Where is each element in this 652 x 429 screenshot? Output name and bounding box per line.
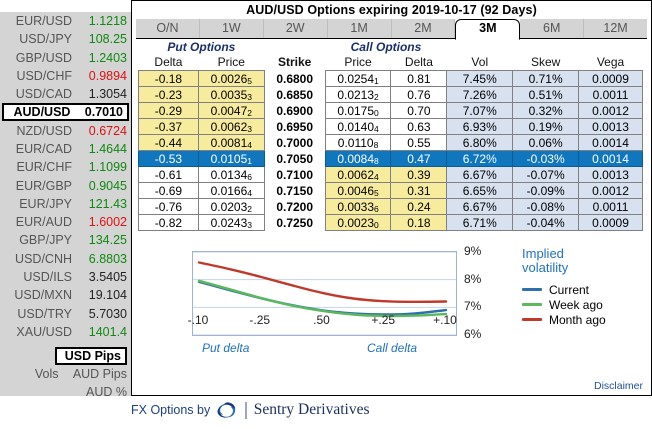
cell-strike[interactable]: 0.7250	[264, 215, 325, 231]
cell-strike[interactable]: 0.6850	[264, 87, 325, 103]
footer-branding: FX Options by Sentry Derivatives	[131, 401, 370, 419]
cell-strike[interactable]: 0.7100	[264, 167, 325, 183]
col-header-put-delta: Delta	[139, 54, 199, 71]
tab-on[interactable]: O/N	[136, 19, 200, 38]
legend-label: Current	[549, 283, 589, 297]
cell-call-price[interactable]: 0.00230	[325, 215, 391, 231]
rate-row[interactable]: USD/ILS3.5405	[0, 268, 131, 286]
price-last-digit: 3	[247, 124, 252, 134]
cell-vol[interactable]: 7.45%	[447, 71, 513, 87]
chart-y-tick-label: 8%	[464, 272, 481, 286]
rate-row[interactable]: USD/MXN19.104	[0, 286, 131, 304]
cell-put-delta[interactable]: -0.23	[139, 87, 199, 103]
rate-pair-label: USD/MXN	[0, 288, 79, 302]
brand-name: Sentry Derivatives	[254, 401, 370, 419]
rate-pair-label: GBP/JPY	[0, 233, 79, 247]
rate-pair-label: EUR/GBP	[0, 179, 79, 193]
rate-pair-label: USD/CHF	[0, 69, 79, 83]
rate-pair-label: EUR/CAD	[0, 142, 79, 156]
volatility-smile-chart: 9%8%7%6% -.10-.25.50+.25+.10 Put delta C…	[192, 251, 647, 361]
put-options-group-label: Put Options	[139, 39, 265, 54]
cell-skew[interactable]: -0.04%	[513, 215, 579, 231]
cell-put-delta[interactable]: -0.53	[139, 151, 199, 167]
cell-put-delta[interactable]: -0.37	[139, 119, 199, 135]
cell-strike[interactable]: 0.6950	[264, 119, 325, 135]
price-last-digit: 1	[374, 76, 379, 86]
rate-row[interactable]: GBP/USD1.2403	[0, 49, 131, 67]
cell-vol[interactable]: 6.72%	[447, 151, 513, 167]
cell-put-price[interactable]: 0.01051	[198, 151, 264, 167]
col-header-strike: Strike	[264, 54, 325, 71]
rate-row[interactable]: EUR/USD1.1218	[0, 12, 131, 30]
cell-put-delta[interactable]: -0.82	[139, 215, 199, 231]
options-chain-table: Put Options Call Options Delta Price Str…	[138, 39, 643, 231]
rate-pair-label: USD/CNH	[0, 252, 79, 266]
rate-list: EUR/USD1.1218USD/JPY108.25GBP/USD1.2403U…	[0, 12, 131, 341]
rate-row[interactable]: EUR/CAD1.4644	[0, 140, 131, 158]
cell-skew[interactable]: -0.07%	[513, 167, 579, 183]
rate-row[interactable]: EUR/JPY121.43	[0, 195, 131, 213]
rate-row[interactable]: USD/CNH6.8803	[0, 250, 131, 268]
cell-vol[interactable]: 6.67%	[447, 199, 513, 215]
vol-unit-label: AUD Pips	[67, 367, 131, 381]
cell-skew[interactable]: -0.03%	[513, 151, 579, 167]
table-row[interactable]: -0.230.003530.68500.021320.767.26%0.51%0…	[139, 87, 643, 103]
footer-divider	[245, 402, 247, 419]
cell-call-delta[interactable]: 0.76	[391, 87, 447, 103]
cell-call-delta[interactable]: 0.81	[391, 71, 447, 87]
rate-pair-label: EUR/CHF	[0, 160, 79, 174]
rate-value: 19.104	[79, 288, 131, 302]
cell-put-price[interactable]: 0.00623	[198, 119, 264, 135]
page-title: AUD/USD Options expiring 2019-10-17 (92 …	[132, 1, 651, 17]
rate-row[interactable]: NZD/USD0.6724	[0, 121, 131, 139]
cell-put-price[interactable]: 0.01664	[198, 183, 264, 199]
call-delta-axis-label: Call delta	[367, 341, 417, 355]
price-last-digit: 8	[374, 140, 379, 150]
table-row[interactable]: -0.290.004720.69000.017500.707.07%0.32%0…	[139, 103, 643, 119]
cell-skew[interactable]: 0.32%	[513, 103, 579, 119]
cell-put-delta[interactable]: -0.69	[139, 183, 199, 199]
rate-value: 1.6002	[79, 215, 131, 229]
chart-x-tick-label: -.10	[175, 313, 221, 327]
cell-strike[interactable]: 0.7050	[264, 151, 325, 167]
chart-y-tick-label: 7%	[464, 299, 481, 313]
col-header-call-price: Price	[325, 54, 391, 71]
call-options-group-label: Call Options	[325, 39, 447, 54]
cell-call-delta[interactable]: 0.39	[391, 167, 447, 183]
chart-y-tick-label: 9%	[464, 244, 481, 258]
cell-vol[interactable]: 7.26%	[447, 87, 513, 103]
cell-strike[interactable]: 0.7000	[264, 135, 325, 151]
rate-pair-label: USD/JPY	[0, 32, 79, 46]
cell-strike[interactable]: 0.6800	[264, 71, 325, 87]
table-row[interactable]: -0.760.020320.72000.003360.246.67%-0.08%…	[139, 199, 643, 215]
legend-item[interactable]: Month ago	[522, 312, 647, 327]
rate-value: 0.9894	[79, 69, 131, 83]
col-header-vol: Vol	[447, 54, 513, 71]
price-last-digit: 4	[247, 188, 252, 198]
rate-row[interactable]: AUD/USD0.7010	[2, 103, 129, 121]
legend-item[interactable]: Current	[522, 282, 647, 297]
tab-2m[interactable]: 2M	[392, 19, 456, 38]
cell-skew[interactable]: -0.08%	[513, 199, 579, 215]
vol-unit-option[interactable]: VolsAUD Pips	[0, 365, 131, 383]
rate-value: 108.25	[79, 32, 131, 46]
rate-value: 0.9045	[79, 179, 131, 193]
rate-value: 1.1218	[79, 14, 131, 28]
chart-x-tick-label: +.25	[360, 313, 406, 327]
chart-x-tick-label: -.25	[237, 313, 283, 327]
table-row[interactable]: -0.370.006230.69500.014040.636.93%0.19%0…	[139, 119, 643, 135]
cell-strike[interactable]: 0.7150	[264, 183, 325, 199]
cell-call-delta[interactable]: 0.55	[391, 135, 447, 151]
rate-row[interactable]: GBP/JPY134.25	[0, 231, 131, 249]
table-row[interactable]: -0.530.010510.70500.008480.476.72%-0.03%…	[139, 151, 643, 167]
cell-call-price[interactable]: 0.02541	[325, 71, 391, 87]
disclaimer-link[interactable]: Disclaimer	[594, 380, 643, 392]
cell-vega[interactable]: 0.0014	[579, 151, 643, 167]
cell-put-delta[interactable]: -0.44	[139, 135, 199, 151]
rate-row[interactable]: XAU/USD1401.4	[0, 323, 131, 341]
price-last-digit: 8	[374, 156, 379, 166]
cell-put-delta[interactable]: -0.29	[139, 103, 199, 119]
rate-value: 5.7030	[79, 307, 131, 321]
rate-row[interactable]: USD/TRY5.7030	[0, 304, 131, 322]
cell-call-price[interactable]: 0.02132	[325, 87, 391, 103]
cell-vega[interactable]: 0.0014	[579, 135, 643, 151]
rate-row[interactable]: USD/JPY108.25	[0, 30, 131, 48]
currency-pair-sidebar: EUR/USD1.1218USD/JPY108.25GBP/USD1.2403U…	[0, 12, 131, 396]
price-last-digit: 4	[374, 124, 379, 134]
cell-call-delta[interactable]: 0.31	[391, 183, 447, 199]
rate-pair-label: XAU/USD	[0, 325, 79, 339]
price-last-digit: 3	[247, 220, 252, 230]
cell-strike[interactable]: 0.7200	[264, 199, 325, 215]
rate-value: 1.1099	[79, 160, 131, 174]
rate-value: 1401.4	[79, 325, 131, 339]
cell-skew[interactable]: 0.51%	[513, 87, 579, 103]
rate-value: 0.7010	[77, 105, 127, 119]
vol-unit-option[interactable]: AUD %	[0, 383, 131, 401]
footer-prefix: FX Options by	[131, 403, 210, 417]
cell-put-delta[interactable]: -0.18	[139, 71, 199, 87]
price-last-digit: 3	[247, 92, 252, 102]
col-header-vega: Vega	[579, 54, 643, 71]
rate-value: 121.43	[79, 197, 131, 211]
cell-vega[interactable]: 0.0012	[579, 103, 643, 119]
cell-call-delta[interactable]: 0.70	[391, 103, 447, 119]
cell-call-price[interactable]: 0.00848	[325, 151, 391, 167]
rate-value: 1.3054	[79, 87, 131, 101]
cell-put-delta[interactable]: -0.61	[139, 167, 199, 183]
rate-pair-label: USD/ILS	[0, 270, 79, 284]
cell-vol[interactable]: 6.80%	[447, 135, 513, 151]
rate-row[interactable]: EUR/CHF1.1099	[0, 158, 131, 176]
chart-series-line	[199, 281, 446, 316]
cell-vega[interactable]: 0.0012	[579, 183, 643, 199]
col-header-call-delta: Delta	[391, 54, 447, 71]
cell-put-price[interactable]: 0.02032	[198, 199, 264, 215]
tab-2w[interactable]: 2W	[264, 19, 328, 38]
rate-row[interactable]: USD/CHF0.9894	[0, 67, 131, 85]
legend-swatch	[522, 318, 542, 322]
vols-section-label: Vols	[0, 367, 67, 381]
cell-vega[interactable]: 0.0011	[579, 87, 643, 103]
cell-call-price[interactable]: 0.00336	[325, 199, 391, 215]
cell-put-price[interactable]: 0.00265	[198, 71, 264, 87]
rate-row[interactable]: EUR/AUD1.6002	[0, 213, 131, 231]
cell-put-price[interactable]: 0.00353	[198, 87, 264, 103]
cell-vol[interactable]: 6.67%	[447, 167, 513, 183]
cell-vega[interactable]: 0.0009	[579, 215, 643, 231]
put-delta-axis-label: Put delta	[202, 341, 249, 355]
rate-pair-label: NZD/USD	[0, 124, 79, 138]
rate-pair-label: EUR/USD	[0, 14, 79, 28]
options-panel: AUD/USD Options expiring 2019-10-17 (92 …	[131, 0, 652, 396]
column-header-row: Delta Price Strike Price Delta Vol Skew …	[139, 54, 643, 71]
rate-value: 1.2403	[79, 51, 131, 65]
legend-title: Implied volatility	[522, 247, 647, 275]
cell-vega[interactable]: 0.0013	[579, 167, 643, 183]
rate-value: 6.8803	[79, 252, 131, 266]
group-header-row: Put Options Call Options	[139, 39, 643, 54]
chart-x-tick-label: +.10	[422, 313, 468, 327]
legend-label: Week ago	[549, 298, 603, 312]
cell-put-delta[interactable]: -0.76	[139, 199, 199, 215]
price-last-digit: 6	[374, 204, 379, 214]
cell-skew[interactable]: -0.09%	[513, 183, 579, 199]
cell-vega[interactable]: 0.0011	[579, 199, 643, 215]
cell-call-price[interactable]: 0.00465	[325, 183, 391, 199]
cell-vol[interactable]: 6.65%	[447, 183, 513, 199]
tenor-tab-bar: O/N1W2W1M2M3M6M12M	[136, 19, 647, 39]
tab-12m[interactable]: 12M	[584, 19, 647, 38]
price-last-digit: 5	[247, 76, 252, 86]
table-row[interactable]: -0.610.013460.71000.006240.396.67%-0.07%…	[139, 167, 643, 183]
cell-vega[interactable]: 0.0013	[579, 119, 643, 135]
rate-value: 1.4644	[79, 142, 131, 156]
legend-swatch	[522, 288, 542, 292]
vol-unit-option[interactable]: USD Pips	[55, 347, 127, 365]
col-header-put-price: Price	[198, 54, 264, 71]
cell-call-delta[interactable]: 0.63	[391, 119, 447, 135]
tab-3m[interactable]: 3M	[455, 19, 520, 40]
rate-pair-label: GBP/USD	[0, 51, 79, 65]
rate-pair-label: AUD/USD	[4, 105, 77, 119]
rate-value: 3.5405	[79, 270, 131, 284]
price-last-digit: 2	[247, 108, 252, 118]
cell-skew[interactable]: 0.71%	[513, 71, 579, 87]
chart-series-line	[199, 263, 446, 302]
cell-put-price[interactable]: 0.02433	[198, 215, 264, 231]
rate-pair-label: EUR/AUD	[0, 215, 79, 229]
table-row[interactable]: -0.690.016640.71500.004650.316.65%-0.09%…	[139, 183, 643, 199]
cell-vol[interactable]: 6.93%	[447, 119, 513, 135]
tab-1m[interactable]: 1M	[328, 19, 392, 38]
price-last-digit: 0	[374, 108, 379, 118]
legend-swatch	[522, 303, 542, 307]
cell-call-price[interactable]: 0.01108	[325, 135, 391, 151]
chart-y-axis-labels: 9%8%7%6%	[464, 246, 504, 341]
price-last-digit: 4	[374, 172, 379, 182]
table-row[interactable]: -0.820.024330.72500.002300.186.71%-0.04%…	[139, 215, 643, 231]
cell-call-price[interactable]: 0.01404	[325, 119, 391, 135]
rate-pair-label: USD/CAD	[0, 87, 79, 101]
rate-row[interactable]: USD/CAD1.3054	[0, 85, 131, 103]
table-row[interactable]: -0.440.008140.70000.011080.556.80%0.06%0…	[139, 135, 643, 151]
price-last-digit: 1	[247, 156, 252, 166]
swirl-logo-icon	[216, 401, 238, 419]
price-last-digit: 2	[374, 92, 379, 102]
cell-put-price[interactable]: 0.00814	[198, 135, 264, 151]
cell-call-delta[interactable]: 0.18	[391, 215, 447, 231]
rate-value: 134.25	[79, 233, 131, 247]
legend-label: Month ago	[549, 313, 606, 327]
cell-skew[interactable]: 0.19%	[513, 119, 579, 135]
col-header-skew: Skew	[513, 54, 579, 71]
cell-call-price[interactable]: 0.01750	[325, 103, 391, 119]
cell-call-delta[interactable]: 0.24	[391, 199, 447, 215]
rate-row[interactable]: EUR/GBP0.9045	[0, 176, 131, 194]
chart-x-tick-label: .50	[299, 313, 345, 327]
rate-pair-label: USD/TRY	[0, 307, 79, 321]
rate-pair-label: EUR/JPY	[0, 197, 79, 211]
cell-vol[interactable]: 7.07%	[447, 103, 513, 119]
legend-item[interactable]: Week ago	[522, 297, 647, 312]
cell-call-price[interactable]: 0.00624	[325, 167, 391, 183]
cell-put-price[interactable]: 0.01346	[198, 167, 264, 183]
chart-legend: Implied volatility CurrentWeek agoMonth …	[522, 247, 647, 327]
tab-6m[interactable]: 6M	[520, 19, 584, 38]
legend-title-line1: Implied	[522, 246, 564, 261]
cell-vol[interactable]: 6.71%	[447, 215, 513, 231]
price-last-digit: 5	[374, 188, 379, 198]
cell-call-delta[interactable]: 0.47	[391, 151, 447, 167]
chart-series-line	[199, 282, 446, 315]
app-root: EUR/USD1.1218USD/JPY108.25GBP/USD1.2403U…	[0, 0, 652, 429]
rate-value: 0.6724	[79, 124, 131, 138]
price-last-digit: 2	[247, 204, 252, 214]
chart-y-tick-label: 6%	[464, 327, 481, 341]
cell-put-price[interactable]: 0.00472	[198, 103, 264, 119]
price-last-digit: 4	[247, 140, 252, 150]
tab-1w[interactable]: 1W	[200, 19, 264, 38]
price-last-digit: 6	[247, 172, 252, 182]
legend-title-line2: volatility	[522, 260, 568, 275]
cell-strike[interactable]: 0.6900	[264, 103, 325, 119]
vols-block: USD PipsVolsAUD PipsAUD %	[0, 347, 131, 402]
vol-unit-label: USD Pips	[57, 349, 125, 363]
cell-skew[interactable]: 0.06%	[513, 135, 579, 151]
table-row[interactable]: -0.180.002650.68000.025410.817.45%0.71%0…	[139, 71, 643, 87]
vol-unit-label: AUD %	[67, 385, 131, 399]
cell-vega[interactable]: 0.0009	[579, 71, 643, 87]
price-last-digit: 0	[374, 220, 379, 230]
